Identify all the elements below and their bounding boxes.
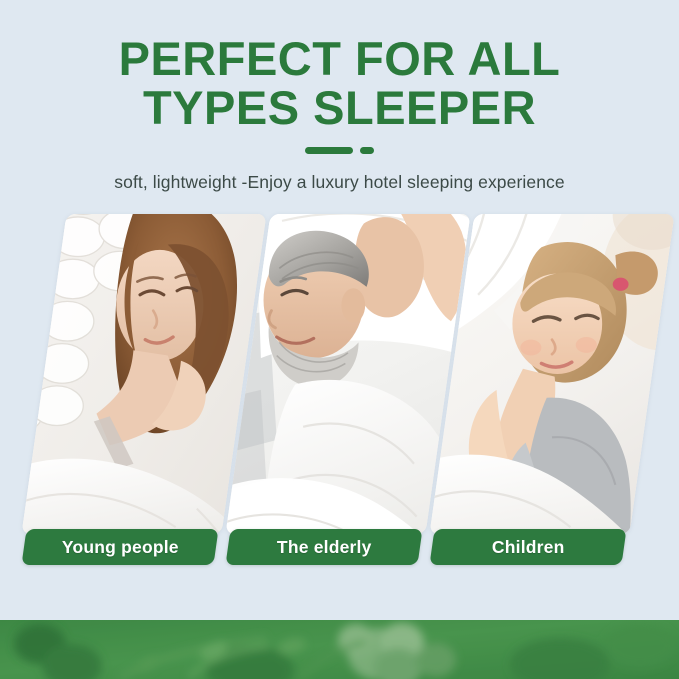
sleeper-card-young-people[interactable] — [22, 214, 267, 534]
card-label-text: Young people — [62, 537, 179, 558]
sleeper-card-the-elderly[interactable] — [226, 214, 471, 534]
divider-short-dash — [360, 147, 374, 154]
bottom-botanical-band — [0, 620, 679, 679]
card-label-text: The elderly — [277, 537, 372, 558]
sleeper-card-children[interactable] — [430, 214, 675, 534]
header: PERFECT FOR ALL TYPES SLEEPER soft, ligh… — [0, 0, 679, 193]
card-label-banner-children: Children — [429, 529, 626, 565]
photo-elderly-man-sleeping — [226, 214, 471, 534]
card-label-banner-young-people: Young people — [21, 529, 218, 565]
page-title: PERFECT FOR ALL TYPES SLEEPER — [0, 0, 679, 132]
divider-long-dash — [305, 147, 353, 154]
photo-toddler-sleeping — [430, 214, 675, 534]
page-subtitle: soft, lightweight -Enjoy a luxury hotel … — [0, 172, 679, 193]
photo-young-woman-sleeping — [22, 214, 267, 534]
card-label-text: Children — [492, 537, 565, 558]
title-divider — [0, 145, 679, 155]
sleeper-type-cards: Young people The elderly Children — [0, 214, 679, 566]
promo-banner: PERFECT FOR ALL TYPES SLEEPER soft, ligh… — [0, 0, 679, 679]
card-label-banner-the-elderly: The elderly — [225, 529, 422, 565]
